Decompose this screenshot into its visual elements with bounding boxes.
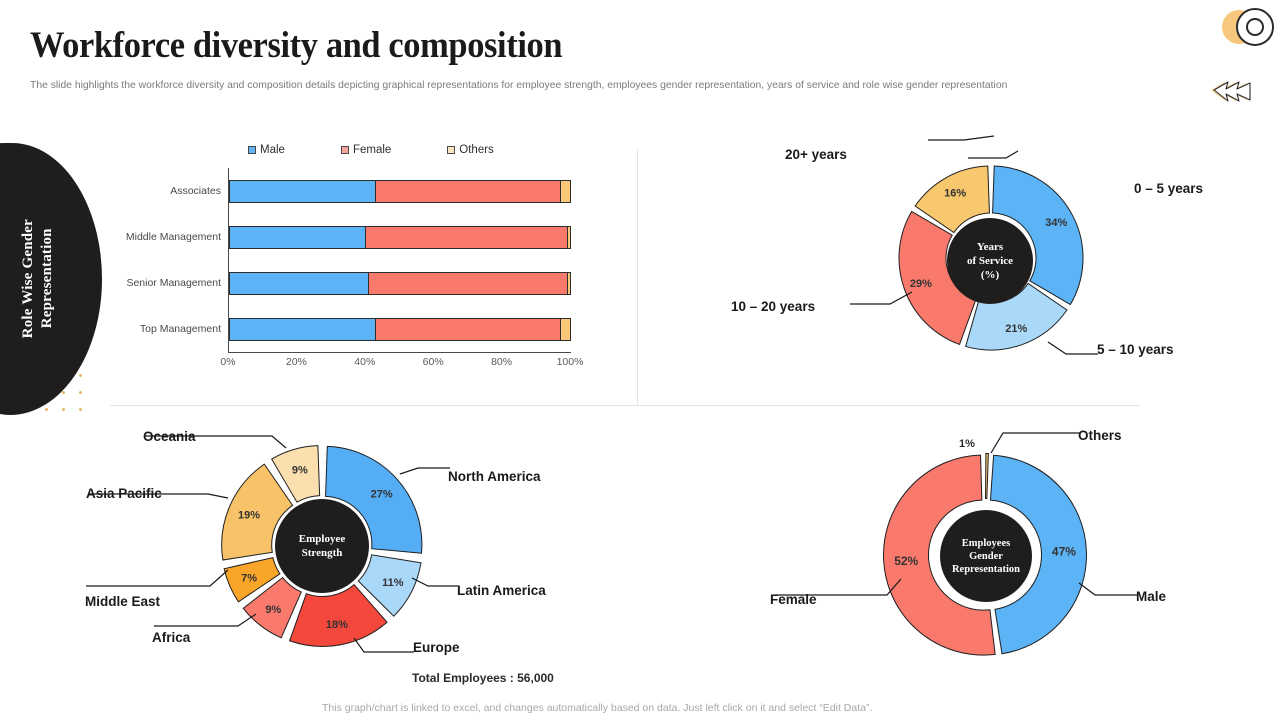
role-section-badge-label: Role Wise Gender Representation [0,143,102,415]
bar-segment-others[interactable] [561,180,571,203]
bar-segment-male[interactable] [229,318,376,341]
hub-label: Yearsof Service(%) [967,240,1013,282]
hub-label-line: (%) [967,268,1013,282]
side-label-line2: Representation [39,229,55,329]
vertical-divider [637,150,638,405]
callout-asia-pacific: Asia Pacific [86,486,162,501]
page-title: Workforce diversity and composition [30,24,562,67]
double-chevron-left-icon [1205,78,1251,106]
legend-item-others[interactable]: Others [447,144,494,156]
donut-value-label: 7% [241,573,257,585]
side-label-line1: Role Wise Gender [20,219,36,338]
total-employees-label: Total Employees : 56,000 [412,671,554,685]
bar-chart-x-tick: 20% [286,356,307,368]
callout-leader-line [1048,342,1098,354]
callout-latin-america: Latin America [457,583,546,598]
callout-leader-line [850,292,912,304]
slide-canvas: Workforce diversity and composition The … [0,0,1280,720]
callout-africa: Africa [152,630,190,645]
donut-slice-others[interactable] [986,454,989,499]
bar-chart-category-label: Senior Management [126,272,229,295]
donut-value-label: 34% [1045,217,1067,229]
hub-label-line: Employee [299,532,345,546]
donut-value-label: 18% [326,619,348,631]
employees-gender-hub: EmployeesGenderRepresentation [940,510,1032,602]
callout-leader-line [968,151,1018,158]
legend-item-male[interactable]: Male [248,144,285,156]
legend-label-others: Others [459,144,494,156]
donut-value-label: 52% [894,554,918,568]
callout-leader-line [412,578,458,586]
callout-europe: Europe [413,640,460,655]
callout-10-20-years: 10 – 20 years [731,299,815,314]
donut-value-label: 47% [1052,545,1076,559]
callout-female: Female [770,592,817,607]
bar-segment-male[interactable] [229,180,376,203]
page-subtitle: The slide highlights the workforce diver… [30,79,1007,91]
callout-leader-line [991,433,1081,453]
bar-segment-others[interactable] [568,272,571,295]
callout-leader-line [354,638,414,652]
bar-chart-rows: AssociatesMiddle ManagementSenior Manage… [229,168,571,352]
callout-5-10-years: 5 – 10 years [1097,342,1174,357]
bar-chart-row[interactable]: Senior Management [229,272,571,295]
hub-label-line: Gender [952,550,1020,563]
bar-chart-x-tick: 100% [557,356,584,368]
donut-value-label: 16% [944,188,966,200]
bar-chart-row[interactable]: Associates [229,180,571,203]
legend-swatch-others [447,146,455,154]
hub-label: EmployeeStrength [299,532,345,560]
legend-item-female[interactable]: Female [341,144,391,156]
hub-label-line: Representation [952,563,1020,576]
hub-label-line: of Service [967,254,1013,268]
concentric-circles-icon [1222,6,1276,50]
bar-segment-others[interactable] [568,226,571,249]
donut-value-label: 11% [382,577,404,589]
bar-segment-male[interactable] [229,272,369,295]
callout-leader-line [400,468,450,474]
bar-chart-category-label: Middle Management [126,226,229,249]
bar-chart-plot-area: AssociatesMiddle ManagementSenior Manage… [228,168,571,353]
callout-oceania: Oceania [143,429,196,444]
callout-20-plus-years: 20+ years [785,147,847,162]
bar-chart-x-tick: 0% [220,356,235,368]
legend-label-female: Female [353,144,391,156]
callout-others: Others [1078,428,1122,443]
bar-chart-x-axis: 0%20%40%60%80%100% [228,356,570,372]
bar-chart-legend: Male Female Others [248,144,494,156]
bar-chart-row[interactable]: Middle Management [229,226,571,249]
donut-value-label: 27% [371,488,393,500]
years-of-service-hub: Yearsof Service(%) [947,218,1033,304]
bar-chart-x-tick: 40% [354,356,375,368]
chart-role-wise-gender[interactable]: Male Female Others AssociatesMiddle Mana… [108,144,588,374]
bar-segment-others[interactable] [561,318,571,341]
legend-label-male: Male [260,144,285,156]
callout-0-5-years: 0 – 5 years [1134,181,1203,196]
bar-segment-female[interactable] [376,318,561,341]
callout-leader-line [1079,583,1137,595]
bar-segment-female[interactable] [366,226,568,249]
bar-segment-female[interactable] [369,272,567,295]
donut-value-label: 1% [959,438,975,450]
bar-segment-female[interactable] [376,180,561,203]
legend-swatch-female [341,146,349,154]
callout-north-america: North America [448,469,541,484]
hub-label: EmployeesGenderRepresentation [952,537,1020,576]
excel-link-note: This graph/chart is linked to excel, and… [322,702,872,714]
horizontal-divider [110,405,1140,406]
donut-value-label: 21% [1005,323,1027,335]
donut-value-label: 9% [265,604,281,616]
callout-leader-line [154,614,256,626]
callout-middle-east: Middle East [85,594,160,609]
callout-male: Male [1136,589,1166,604]
bar-chart-x-tick: 60% [423,356,444,368]
legend-swatch-male [248,146,256,154]
inner-ring [1246,18,1264,36]
donut-value-label: 19% [238,509,260,521]
bar-segment-male[interactable] [229,226,366,249]
callout-leader-line [86,570,228,586]
callout-leader-line [928,136,994,140]
bar-chart-row[interactable]: Top Management [229,318,571,341]
employee-strength-hub: EmployeeStrength [275,499,369,593]
bar-chart-x-tick: 80% [491,356,512,368]
hub-label-line: Strength [299,546,345,560]
hub-label-line: Employees [952,537,1020,550]
bar-chart-category-label: Associates [170,180,229,203]
hub-label-line: Years [967,240,1013,254]
donut-value-label: 9% [292,465,308,477]
donut-value-label: 29% [910,278,932,290]
bar-chart-category-label: Top Management [140,318,229,341]
